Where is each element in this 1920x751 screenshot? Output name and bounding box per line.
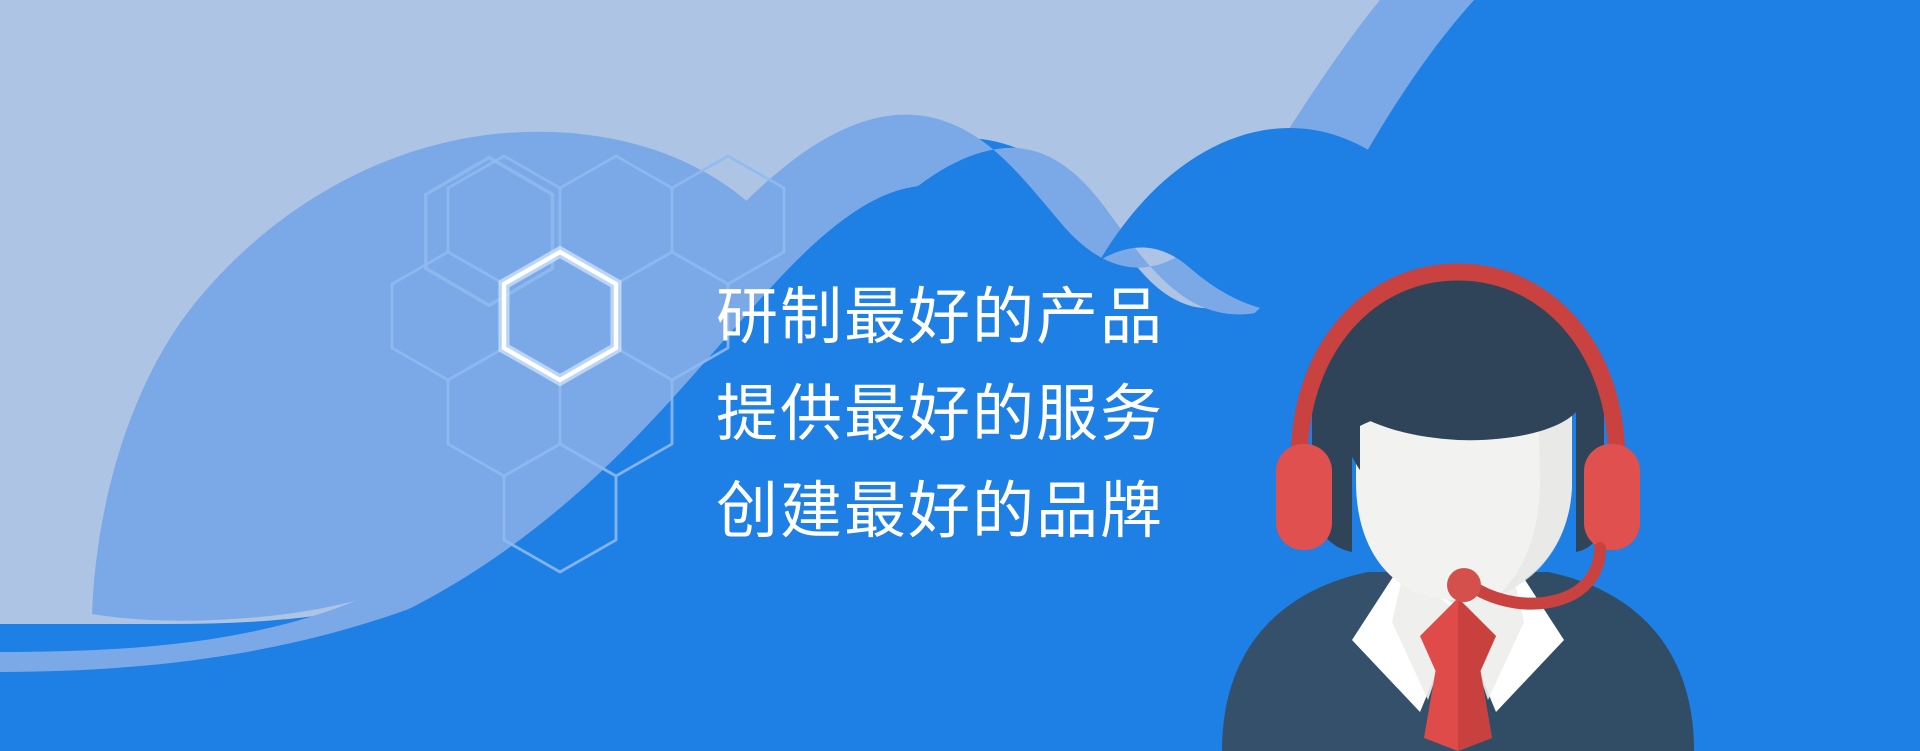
- headline-line-2: 提供最好的服务: [716, 365, 1276, 462]
- headset-earcup-right: [1584, 444, 1640, 550]
- headline-block: 研制最好的产品 提供最好的服务 创建最好的品牌: [716, 268, 1276, 559]
- headline-line-3: 创建最好的品牌: [716, 462, 1276, 559]
- hero-banner: 研制最好的产品 提供最好的服务 创建最好的品牌: [0, 0, 1920, 751]
- headline-line-1: 研制最好的产品: [716, 268, 1276, 365]
- headset-earcup-left: [1276, 444, 1332, 550]
- headset-mic-tip: [1447, 568, 1481, 602]
